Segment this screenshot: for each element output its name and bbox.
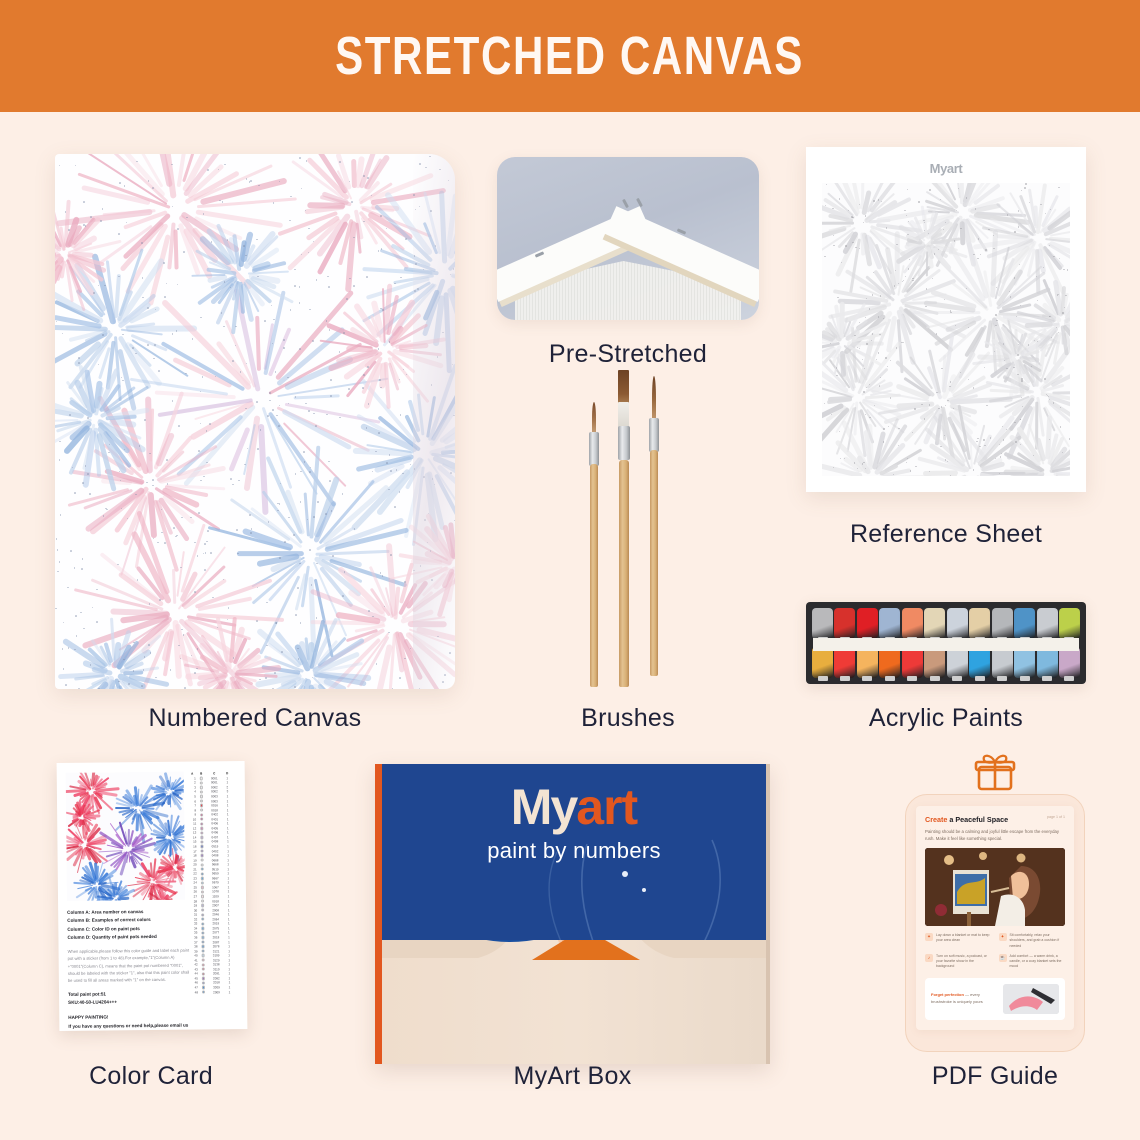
outline-dot (869, 417, 870, 418)
outline-dot (995, 325, 996, 326)
region-number-dot (404, 658, 406, 660)
color-dot (202, 972, 205, 975)
region-number-dot (70, 550, 72, 552)
region-number-dot (295, 473, 297, 475)
cell-quantity: 1 (224, 844, 231, 848)
region-number-dot (312, 340, 314, 342)
region-number-dot (272, 688, 274, 689)
region-number-dot (209, 423, 211, 425)
pdf-heading: page 1 of 1 Create a Peaceful Space (925, 815, 1065, 824)
cell-color-id: 0918 (208, 899, 223, 903)
outline-dot (912, 280, 913, 281)
burst-ray (454, 576, 455, 619)
color-card-table: ABCD100011200011300022400023500031600031… (189, 771, 239, 994)
region-number-dot (297, 587, 299, 589)
paint-pot (857, 608, 878, 639)
cell-area-number: 39 (191, 949, 198, 953)
cell-quantity: 1 (225, 917, 232, 921)
color-dot (201, 940, 204, 943)
region-number-dot (381, 248, 383, 250)
color-dot (202, 981, 205, 984)
burst-ray (431, 381, 455, 442)
region-number-dot (351, 201, 353, 203)
outline-dot (857, 468, 858, 469)
region-number-dot (274, 672, 276, 674)
cell-color-id: 3121 (209, 949, 224, 953)
cell-color-id: 0001 (207, 776, 222, 780)
region-number-dot (452, 364, 454, 366)
region-number-dot (152, 479, 154, 481)
paint-pot (834, 647, 855, 678)
region-number-dot (284, 541, 286, 543)
burst-ray (166, 898, 173, 901)
region-number-dot (399, 677, 401, 679)
cell-quantity: 1 (224, 812, 231, 816)
pdf-heading-rest: a Peaceful Space (947, 815, 1008, 824)
box-top-panel: Myart paint by numbers (382, 764, 766, 940)
outline-dot (929, 404, 930, 405)
region-number-dot (419, 688, 421, 689)
cell-color-swatch (199, 927, 206, 930)
cell-color-id: 0016 (207, 803, 222, 807)
region-number-dot (450, 472, 452, 474)
region-number-dot (104, 285, 106, 287)
burst-ray (439, 190, 447, 263)
color-card-note: When applicable,please follow this color… (68, 947, 190, 985)
cell-color-swatch (198, 840, 205, 843)
region-number-dot (283, 347, 285, 349)
outline-dot (1000, 456, 1001, 457)
cell-color-id: 2092 (209, 976, 224, 980)
outline-dot (1007, 214, 1008, 215)
outline-dot (950, 310, 951, 311)
legend-column-d: Column D: Quantity of paint pots needed (67, 933, 189, 943)
cell-color-id: 0407 (207, 835, 222, 839)
burst-ray (115, 807, 130, 809)
box-right-edge (766, 764, 770, 1064)
cell-color-swatch (199, 918, 206, 921)
paint-pot (1037, 608, 1058, 639)
outline-dot (977, 258, 978, 259)
cell-color-id: 0402 (208, 849, 223, 853)
region-number-dot (267, 415, 269, 417)
region-number-dot (192, 338, 194, 340)
staple-icon (636, 198, 643, 207)
region-number-dot (423, 476, 425, 478)
outline-dot (1069, 438, 1070, 439)
cell-color-swatch (200, 990, 207, 993)
pdf-subtitle: Painting should be a calming and joyful … (925, 828, 1065, 842)
region-number-dot (154, 344, 156, 346)
region-number-dot (141, 242, 143, 244)
cell-area-number: 11 (189, 822, 196, 826)
region-number-dot (299, 157, 301, 159)
outline-dot (895, 270, 896, 271)
region-number-dot (57, 571, 59, 573)
region-number-dot (158, 370, 160, 372)
cell-quantity: 1 (225, 935, 232, 939)
cell-color-swatch (200, 981, 207, 984)
cell-color-swatch (200, 954, 207, 957)
cell-quantity: 1 (226, 944, 233, 948)
region-number-dot (243, 245, 245, 247)
cell-quantity: 1 (224, 817, 231, 821)
burst-ray (423, 289, 440, 321)
cell-color-swatch (200, 968, 207, 971)
burst-ray (446, 567, 455, 604)
region-number-dot (78, 362, 80, 364)
outline-dot (855, 247, 856, 248)
region-number-dot (279, 503, 281, 505)
cell-color-swatch (199, 931, 206, 934)
region-number-dot (382, 575, 384, 577)
region-number-dot (55, 608, 57, 610)
region-number-dot (75, 165, 77, 167)
cell-color-id: 0003 (207, 799, 222, 803)
outline-dot (907, 458, 908, 459)
cell-area-number: 26 (190, 890, 197, 894)
region-number-dot (415, 209, 417, 211)
brush-flat (618, 370, 630, 687)
outline-dot (886, 227, 887, 228)
region-number-dot (69, 414, 71, 416)
region-number-dot (87, 473, 89, 475)
cell-quantity: 1 (224, 794, 231, 798)
region-number-dot (313, 516, 315, 518)
color-dot (201, 895, 204, 898)
region-number-dot (382, 309, 384, 311)
cell-color-swatch (199, 867, 206, 870)
firework-burst (327, 291, 443, 407)
color-dot (201, 913, 204, 916)
burst-ray (428, 363, 455, 441)
outline-dot (840, 458, 841, 459)
color-card-item[interactable]: Column A: Area number on canvas Column B… (58, 762, 246, 1047)
cell-quantity: 1 (225, 871, 232, 875)
burst-ray (412, 572, 455, 613)
cell-quantity: 1 (226, 949, 233, 953)
tip-icon: ☕ (999, 954, 1007, 962)
region-number-dot (171, 164, 173, 166)
color-dot (201, 918, 204, 921)
cell-color-id: 0003 (207, 794, 222, 798)
burst-ray (425, 513, 454, 559)
cell-quantity: 3 (224, 790, 231, 794)
color-dot (200, 781, 203, 784)
outline-dot (1053, 402, 1054, 403)
color-dot (200, 854, 203, 857)
outline-dot (865, 317, 866, 318)
region-number-dot (430, 550, 432, 552)
region-number-dot (148, 644, 150, 646)
region-number-dot (78, 357, 80, 359)
caption-brushes: Brushes (497, 704, 759, 733)
paint-tray (806, 602, 1086, 684)
region-number-dot (430, 210, 432, 212)
cell-color-id: 0679 (208, 881, 223, 885)
outline-dot (929, 189, 930, 190)
outline-dot (941, 406, 942, 407)
region-number-dot (326, 414, 328, 416)
region-number-dot (81, 568, 83, 570)
cell-area-number: 36 (190, 935, 197, 939)
cell-quantity: 1 (224, 840, 231, 844)
region-number-dot (414, 255, 416, 257)
region-number-dot (98, 688, 100, 689)
region-number-dot (164, 296, 166, 298)
region-number-dot (183, 634, 185, 636)
region-number-dot (194, 672, 196, 674)
cell-quantity: 1 (224, 799, 231, 803)
cell-quantity: 1 (225, 876, 232, 880)
region-number-dot (219, 200, 221, 202)
cell-quantity: 1 (225, 881, 232, 885)
pdf-photo (925, 848, 1065, 926)
cell-color-id: 2064 (208, 917, 223, 921)
cell-color-id: 0018 (207, 808, 222, 812)
region-number-dot (236, 529, 238, 531)
color-dot (200, 777, 203, 780)
paint-pot (879, 647, 900, 678)
paint-pot (969, 608, 990, 639)
cell-color-swatch (199, 890, 206, 893)
region-number-dot (279, 557, 281, 559)
region-number-dot (435, 245, 437, 247)
cell-quantity: 1 (224, 781, 231, 785)
numbered-canvas-item[interactable] (55, 154, 455, 689)
burst-ray (408, 621, 447, 627)
acrylic-paints-item[interactable] (806, 602, 1086, 700)
outline-dot (906, 462, 907, 463)
brushes-item[interactable] (566, 362, 690, 697)
burst-ray (433, 295, 445, 346)
burst-ray (409, 628, 455, 652)
cell-quantity: 1 (226, 962, 233, 966)
cell-quantity: 1 (224, 821, 231, 825)
burst-ray (393, 274, 434, 284)
color-dot (201, 877, 204, 880)
region-number-dot (180, 567, 182, 569)
region-number-dot (204, 569, 206, 571)
region-number-dot (294, 686, 296, 688)
outline-dot (839, 198, 840, 199)
outline-dot (824, 256, 825, 257)
cell-area-number: 20 (190, 863, 197, 867)
cell-color-id: 2087 (208, 940, 223, 944)
outline-dot (923, 220, 924, 221)
cell-color-id: 1078 (208, 890, 223, 894)
outline-dot (876, 359, 877, 360)
burst-ray (443, 292, 452, 373)
cell-color-id: 0406 (207, 831, 222, 835)
region-number-dot (315, 425, 317, 427)
burst-ray (1061, 326, 1064, 344)
outline-dot (1014, 231, 1015, 232)
color-dot (202, 977, 205, 980)
color-dot (200, 858, 203, 861)
cell-area-number: 25 (190, 885, 197, 889)
paint-pot (924, 647, 945, 678)
region-number-dot (178, 425, 180, 427)
region-number-dot (177, 228, 179, 230)
outline-dot (1065, 295, 1066, 296)
outline-dot (851, 216, 852, 217)
cell-area-number: 21 (190, 867, 197, 871)
region-number-dot (82, 482, 84, 484)
paint-pot (947, 647, 968, 678)
color-dot (200, 845, 203, 848)
cell-quantity: 1 (224, 826, 231, 830)
region-number-dot (96, 589, 98, 591)
cell-color-id: 1067 (208, 885, 223, 889)
region-number-dot (453, 415, 455, 417)
region-number-dot (100, 220, 102, 222)
cell-area-number: 28 (190, 899, 197, 903)
color-card-row: 4820091 (191, 989, 239, 994)
region-number-dot (386, 462, 388, 464)
outline-dot (859, 348, 860, 349)
cell-color-swatch (199, 877, 206, 880)
outline-dot (973, 387, 974, 388)
color-dot (201, 899, 204, 902)
color-dot (201, 868, 204, 871)
burst-ray (412, 540, 448, 561)
cell-area-number: 32 (190, 917, 197, 921)
paint-pot (992, 608, 1013, 639)
tip-icon: ✦ (925, 933, 933, 941)
tip-icon: ✦ (999, 933, 1007, 941)
cell-color-id: 0002 (207, 790, 222, 794)
region-number-dot (454, 520, 455, 522)
region-number-dot (63, 622, 65, 624)
burst-ray (294, 394, 340, 399)
region-number-dot (424, 519, 426, 521)
woman-illustration (382, 940, 766, 960)
region-number-dot (149, 603, 151, 605)
outline-dot (993, 235, 994, 236)
cell-quantity: 1 (225, 885, 232, 889)
region-number-dot (328, 461, 330, 463)
pdf-guide-item[interactable]: page 1 of 1 Create a Peaceful Space Pain… (895, 752, 1095, 1072)
region-number-dot (147, 307, 149, 309)
paint-pot (969, 647, 990, 678)
paint-pot (1037, 647, 1058, 678)
region-number-dot (299, 302, 301, 304)
outline-dot (1021, 378, 1022, 379)
cell-color-swatch (199, 872, 206, 875)
region-number-dot (198, 450, 200, 452)
region-number-dot (85, 225, 87, 227)
column-header: A (189, 772, 196, 776)
burst-ray (442, 463, 455, 511)
burst-ray (427, 458, 455, 520)
cell-area-number: 13 (189, 831, 196, 835)
region-number-dot (434, 484, 436, 486)
cell-area-number: 15 (189, 840, 196, 844)
cell-color-swatch (199, 881, 206, 884)
color-dot (200, 827, 203, 830)
burst-ray (172, 568, 176, 603)
burst-ray (404, 267, 439, 276)
region-number-dot (83, 224, 85, 226)
paint-pot-row-top (812, 608, 1080, 639)
burst-ray (423, 222, 438, 254)
region-number-dot (294, 269, 296, 271)
cell-color-swatch (200, 963, 207, 966)
region-number-dot (102, 208, 104, 210)
region-number-dot (249, 514, 251, 516)
cell-quantity: 1 (225, 908, 232, 912)
region-number-dot (256, 401, 258, 403)
color-dot (200, 786, 203, 789)
box-bottom-panel (382, 940, 766, 1064)
color-dot (201, 908, 204, 911)
cell-quantity: 1 (225, 858, 232, 862)
color-dot (201, 886, 204, 889)
myart-box-image: Myart paint by numbers (375, 764, 770, 1064)
cell-color-swatch (198, 790, 205, 793)
pdf-tip: ✦ Sit comfortably, relax your shoulders,… (999, 933, 1066, 949)
cell-area-number: 38 (191, 945, 198, 949)
region-number-dot (448, 180, 450, 182)
color-dot (201, 949, 204, 952)
cell-quantity: 2 (224, 785, 231, 789)
cell-color-swatch (198, 786, 205, 789)
region-number-dot (437, 356, 439, 358)
cell-area-number: 37 (190, 940, 197, 944)
region-number-dot (429, 156, 431, 158)
burst-ray (441, 448, 455, 455)
burst-ray (434, 473, 455, 538)
region-number-dot (450, 274, 452, 276)
paint-pot (902, 647, 923, 678)
burst-ray (429, 378, 455, 447)
reference-sheet-image: Myart (806, 147, 1086, 492)
cell-quantity: 1 (226, 967, 233, 971)
cell-color-id: 2008 (208, 908, 223, 912)
region-number-dot (264, 320, 266, 322)
color-dot (201, 954, 204, 957)
cell-area-number: 4 (189, 790, 196, 794)
cell-quantity: 1 (225, 867, 232, 871)
staple-icon (622, 199, 629, 208)
outline-dot (869, 384, 870, 385)
myart-box-item[interactable]: Myart paint by numbers (375, 764, 770, 1069)
cell-color-swatch (198, 813, 205, 816)
outline-dot (873, 200, 874, 201)
outline-dot (865, 215, 866, 216)
region-number-dot (423, 269, 425, 271)
region-number-dot (339, 351, 341, 353)
cell-color-id: 0401 (207, 817, 222, 821)
region-number-dot (59, 561, 61, 563)
pdf-tips-list: ✦ Lay down a blanket or mat to keep your… (925, 933, 1065, 970)
cell-area-number: 41 (191, 958, 198, 962)
paint-pot (1059, 608, 1080, 639)
cell-area-number: 7 (189, 804, 196, 808)
region-number-dot (362, 387, 364, 389)
region-number-dot (181, 629, 183, 631)
burst-ray (450, 273, 455, 288)
region-number-dot (96, 621, 98, 623)
cell-color-swatch (200, 958, 207, 961)
pre-stretched-item[interactable] (497, 157, 759, 362)
region-number-dot (348, 388, 350, 390)
cell-color-swatch (199, 849, 206, 852)
cell-area-number: 27 (190, 895, 197, 899)
outline-dot (1062, 312, 1063, 313)
burst-ray (405, 632, 455, 679)
